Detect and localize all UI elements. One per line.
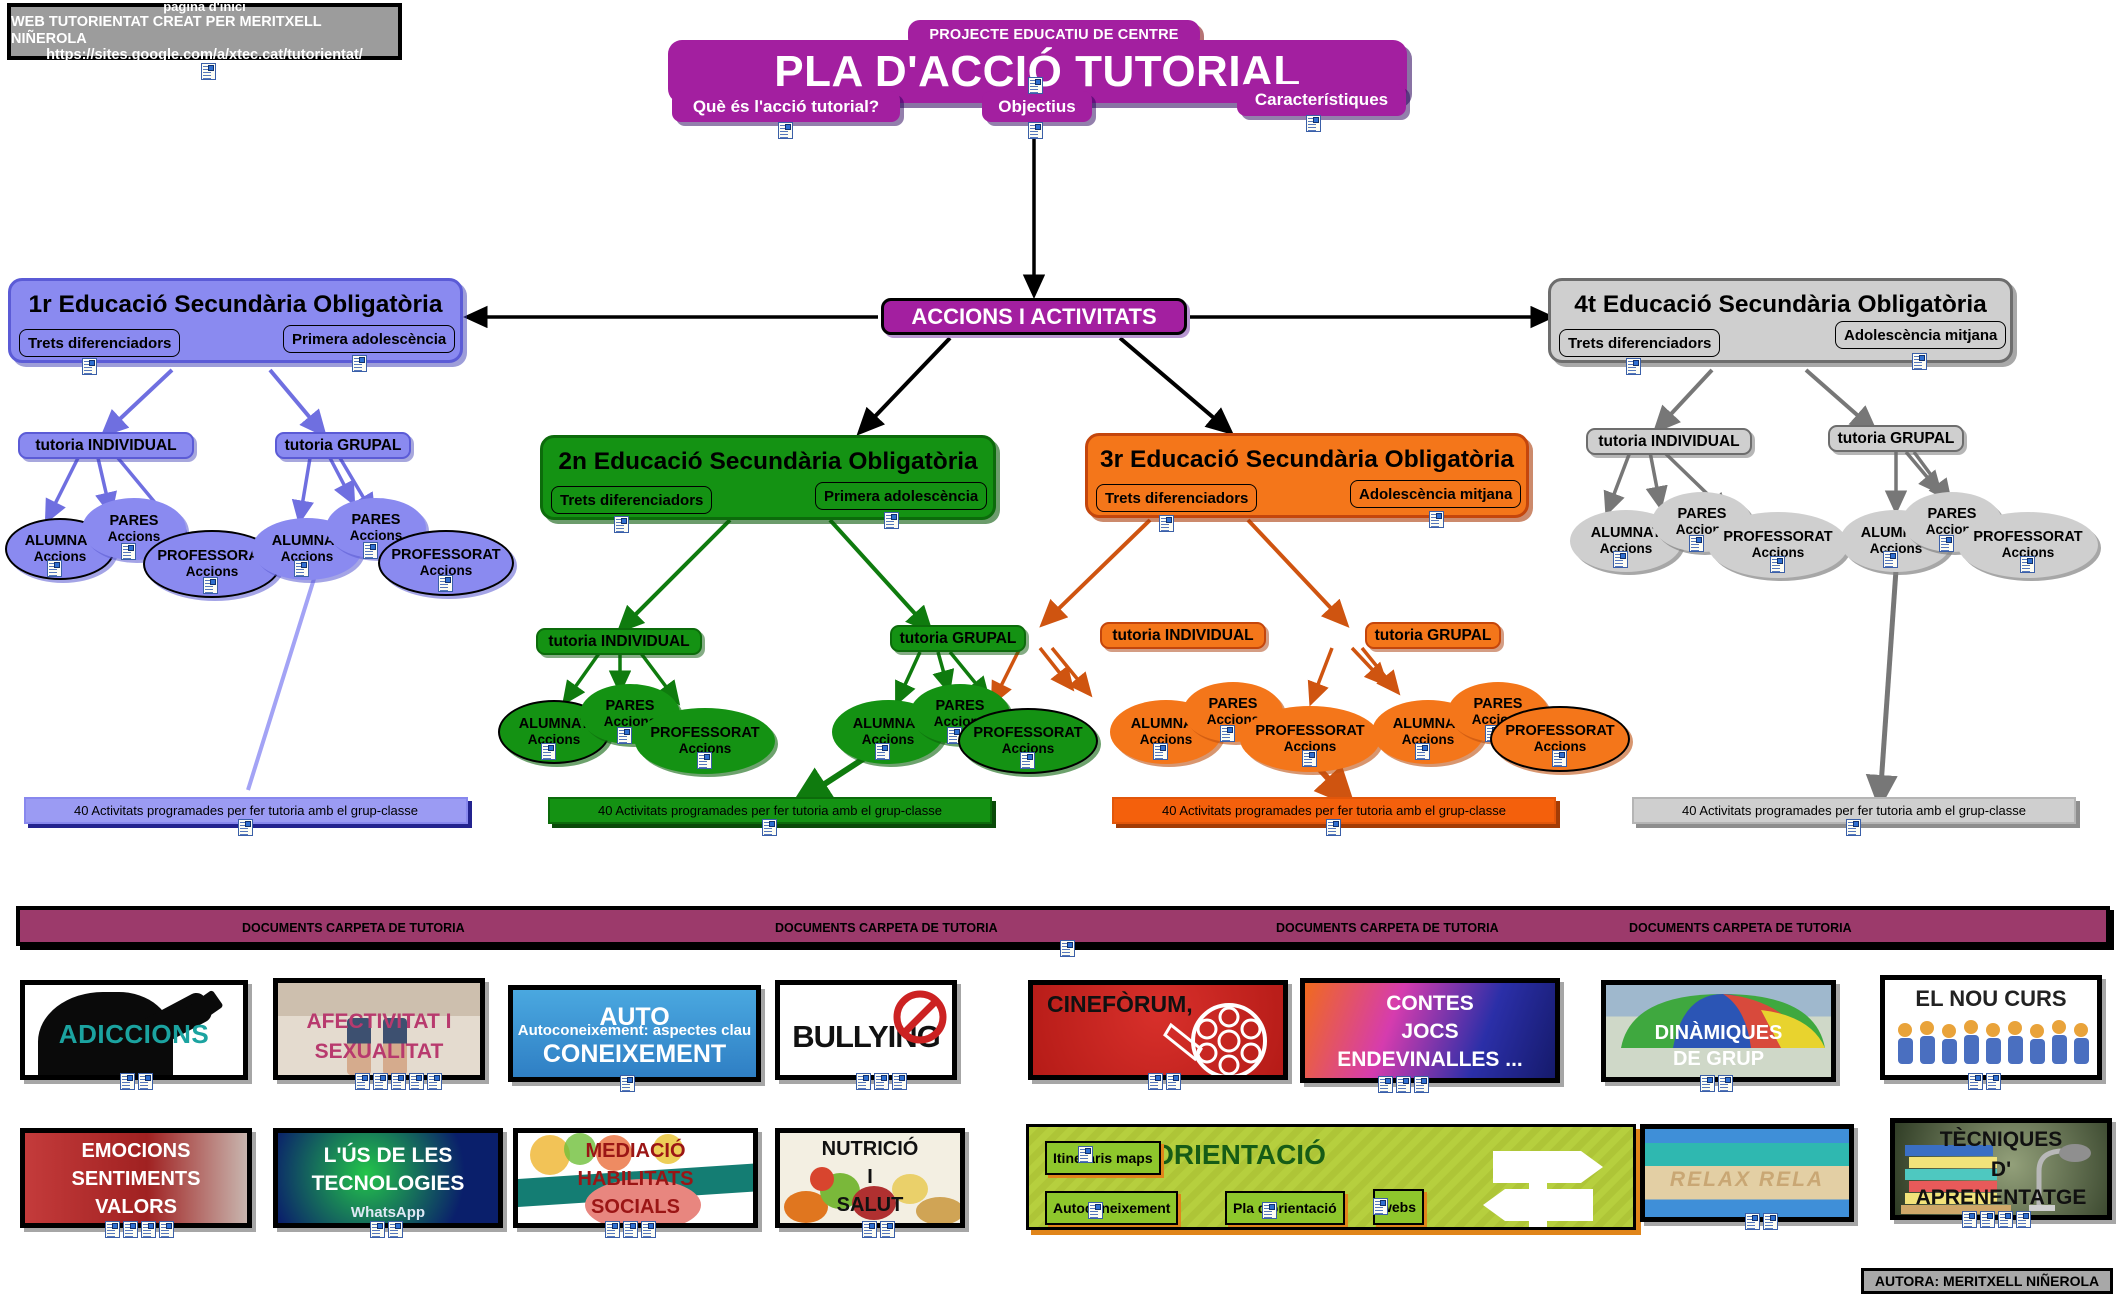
oval-title: PROFESSORAT bbox=[1255, 724, 1364, 739]
oval-title: PROFESSORAT bbox=[1723, 530, 1832, 545]
document-icon[interactable] bbox=[1552, 750, 1567, 767]
card-icons-tecnologies[interactable] bbox=[370, 1221, 403, 1238]
hub-accions-i-activitats[interactable]: ACCIONS I ACTIVITATS bbox=[881, 298, 1187, 335]
trets-diferenciadors-4t[interactable]: Trets diferenciadors bbox=[1559, 329, 1720, 357]
document-icon[interactable] bbox=[856, 1073, 871, 1090]
card-orientacio[interactable]: ORIENTACIÓ Itineraris maps Autoconeixeme… bbox=[1026, 1124, 1636, 1230]
tutoria-grupal-4t[interactable]: tutoria GRUPAL bbox=[1828, 425, 1964, 452]
card-bullying[interactable]: BULLYING bbox=[775, 980, 957, 1080]
film-reel-icon bbox=[1163, 1001, 1273, 1080]
document-icon[interactable] bbox=[1883, 551, 1898, 568]
document-icon[interactable] bbox=[1689, 535, 1704, 552]
document-icon[interactable] bbox=[1718, 1075, 1733, 1092]
oval-title: PARES bbox=[936, 699, 985, 714]
document-icon[interactable] bbox=[1220, 725, 1235, 742]
document-icon[interactable] bbox=[201, 63, 216, 80]
card-icons-tecniques[interactable] bbox=[1962, 1211, 2031, 1228]
image-icon[interactable] bbox=[862, 1221, 877, 1238]
document-icon[interactable] bbox=[352, 355, 367, 372]
card-tecnologies[interactable]: L'ÚS DE LES TECNOLOGIES WhatsApp bbox=[273, 1128, 503, 1228]
document-icon[interactable] bbox=[1302, 750, 1317, 767]
document-icon[interactable] bbox=[880, 1221, 895, 1238]
document-icon[interactable] bbox=[1414, 1076, 1429, 1093]
document-icon[interactable] bbox=[1028, 77, 1043, 94]
document-icon[interactable] bbox=[105, 1221, 120, 1238]
oval-title: PARES bbox=[1928, 507, 1977, 522]
card-afectivitat[interactable]: AFECTIVITAT I SEXUALITAT bbox=[273, 978, 485, 1080]
card-icons-emocions[interactable] bbox=[105, 1221, 174, 1238]
document-icon[interactable] bbox=[1148, 1073, 1163, 1090]
tutoria-grupal-3r[interactable]: tutoria GRUPAL bbox=[1365, 622, 1501, 649]
tutoria-individual-1r[interactable]: tutoria INDIVIDUAL bbox=[18, 432, 194, 459]
nav-what-is-tutorial[interactable]: Què és l'acció tutorial? bbox=[672, 91, 900, 122]
card-caption: RELAX RELA bbox=[1645, 1169, 1849, 1190]
document-icon[interactable] bbox=[620, 1075, 635, 1092]
document-icon[interactable] bbox=[238, 819, 253, 836]
document-icon[interactable] bbox=[294, 560, 309, 577]
document-icon[interactable] bbox=[1968, 1073, 1983, 1090]
document-icon[interactable] bbox=[1998, 1211, 2013, 1228]
card-icons-nou-curs[interactable] bbox=[1968, 1073, 2001, 1090]
document-icon[interactable] bbox=[1060, 940, 1075, 957]
card-dinamiques[interactable]: DINÀMIQUES DE GRUP bbox=[1601, 980, 1836, 1082]
tutoria-individual-3r[interactable]: tutoria INDIVIDUAL bbox=[1100, 622, 1266, 649]
document-icon[interactable] bbox=[1763, 1213, 1778, 1230]
year-title-4t: 4t Educació Secundària Obligatòria bbox=[1551, 291, 2010, 319]
document-icon[interactable] bbox=[1429, 511, 1444, 528]
card-icons-relax[interactable] bbox=[1745, 1213, 1778, 1230]
books-graphic bbox=[1901, 1135, 2011, 1215]
oval-title: PARES bbox=[606, 699, 655, 714]
document-icon[interactable] bbox=[762, 819, 777, 836]
document-icon[interactable] bbox=[1912, 353, 1927, 370]
children-graphic bbox=[1893, 1018, 2098, 1076]
legs-graphic bbox=[347, 1018, 371, 1075]
year-header-4t[interactable]: 4t Educació Secundària Obligatòria Trets… bbox=[1548, 278, 2013, 363]
documents-label-2[interactable]: DOCUMENTS CARPETA DE TUTORIA bbox=[775, 921, 998, 935]
card-caption: AUTO bbox=[513, 1005, 756, 1031]
banner-url: https://sites.google.com/a/xtec.cat/tuto… bbox=[46, 47, 363, 63]
documents-label-1[interactable]: DOCUMENTS CARPETA DE TUTORIA bbox=[242, 921, 465, 935]
orientacio-tag-autoconeixement[interactable]: Autoconeixement bbox=[1045, 1191, 1178, 1225]
card-cineforum[interactable]: CINEFÒRUM, bbox=[1028, 980, 1288, 1080]
document-icon[interactable] bbox=[778, 122, 793, 139]
card-caption: EMOCIONS bbox=[25, 1141, 247, 1161]
document-icon[interactable] bbox=[1846, 819, 1861, 836]
oval-title: PARES bbox=[1209, 697, 1258, 712]
film-icon[interactable] bbox=[141, 1221, 156, 1238]
trets-diferenciadors-1r[interactable]: Trets diferenciadors bbox=[19, 329, 180, 357]
card-caption-2: DE GRUP bbox=[1606, 1049, 1831, 1069]
tutoria-individual-4t[interactable]: tutoria INDIVIDUAL bbox=[1586, 428, 1752, 455]
year-header-1r[interactable]: 1r Educació Secundària Obligatòria Trets… bbox=[8, 278, 463, 363]
card-icons-nutricio[interactable] bbox=[862, 1221, 895, 1238]
document-icon[interactable] bbox=[697, 752, 712, 769]
document-icon[interactable] bbox=[82, 358, 97, 375]
document-icon[interactable] bbox=[1088, 1202, 1103, 1219]
document-icon[interactable] bbox=[1159, 515, 1174, 532]
prohibition-icon bbox=[892, 989, 948, 1045]
card-contes[interactable]: CONTES JOCS ENDEVINALLES ... bbox=[1300, 978, 1560, 1083]
site-banner[interactable]: pagina d'inici WEB TUTORIENTAT CREAT PER… bbox=[7, 3, 402, 60]
stage-label-1r[interactable]: Primera adolescència bbox=[283, 325, 455, 353]
document-icon[interactable] bbox=[2020, 556, 2035, 573]
image-icon[interactable] bbox=[1745, 1213, 1760, 1230]
oval-title: PROFESSORAT bbox=[973, 726, 1082, 741]
film-icon[interactable] bbox=[409, 1073, 424, 1090]
stage-label-3r[interactable]: Adolescència mitjana bbox=[1350, 480, 1521, 508]
document-icon[interactable] bbox=[363, 542, 378, 559]
document-icon[interactable] bbox=[1700, 1075, 1715, 1092]
oval-title: PARES bbox=[1474, 697, 1523, 712]
oval-title: ALUMNAT bbox=[519, 717, 590, 732]
oval-title: PARES bbox=[352, 513, 401, 528]
document-icon[interactable] bbox=[614, 516, 629, 533]
oval-title: PARES bbox=[110, 514, 159, 529]
documents-label-4[interactable]: DOCUMENTS CARPETA DE TUTORIA bbox=[1629, 921, 1852, 935]
document-icon[interactable] bbox=[1415, 743, 1430, 760]
document-icon[interactable] bbox=[1306, 115, 1321, 132]
tutoria-individual-2n[interactable]: tutoria INDIVIDUAL bbox=[536, 628, 702, 655]
document-icon[interactable] bbox=[121, 543, 136, 560]
document-icon[interactable] bbox=[1770, 556, 1785, 573]
card-caption: EL NOU CURS bbox=[1885, 988, 2097, 1010]
card-caption: AFECTIVITAT I bbox=[278, 1011, 480, 1032]
card-nou-curs[interactable]: EL NOU CURS bbox=[1880, 975, 2102, 1080]
oval-title: PROFESSORAT bbox=[157, 549, 266, 564]
year-header-2n[interactable]: 2n Educació Secundària Obligatòria Trets… bbox=[540, 435, 996, 520]
card-mediacio[interactable]: MEDIACIÓ HABILITATS SOCIALS bbox=[513, 1128, 758, 1228]
oval-title: PROFESSORAT bbox=[1973, 530, 2082, 545]
stage-label-4t[interactable]: Adolescència mitjana bbox=[1835, 321, 2006, 349]
image-icon[interactable] bbox=[159, 1221, 174, 1238]
oval-title: PROFESSORAT bbox=[650, 726, 759, 741]
document-icon[interactable] bbox=[617, 727, 632, 744]
stage-label-2n[interactable]: Primera adolescència bbox=[815, 482, 987, 510]
document-icon[interactable] bbox=[120, 1073, 135, 1090]
document-icon[interactable] bbox=[438, 575, 453, 592]
desk-lamp-icon bbox=[2029, 1137, 2099, 1213]
checklist-icon[interactable] bbox=[370, 1221, 385, 1238]
trets-diferenciadors-3r[interactable]: Trets diferenciadors bbox=[1096, 484, 1257, 512]
document-icon[interactable] bbox=[623, 1221, 638, 1238]
card-caption-3: ENDEVINALLES ... bbox=[1305, 1049, 1555, 1070]
document-icon[interactable] bbox=[123, 1221, 138, 1238]
hands-graphic bbox=[518, 1133, 758, 1228]
card-icons-bullying[interactable] bbox=[856, 1073, 907, 1090]
image-icon[interactable] bbox=[641, 1221, 656, 1238]
legs-graphic bbox=[383, 1018, 407, 1075]
document-icon[interactable] bbox=[1326, 819, 1341, 836]
card-caption: CONTES bbox=[1305, 993, 1555, 1014]
food-graphic bbox=[782, 1155, 965, 1228]
card-tecniques[interactable]: TÈCNIQUES D' APRENENTATGE bbox=[1890, 1118, 2112, 1220]
person-icon[interactable] bbox=[1078, 1146, 1093, 1163]
document-icon[interactable] bbox=[875, 743, 890, 760]
film-icon[interactable] bbox=[1986, 1073, 2001, 1090]
document-icon[interactable] bbox=[1166, 1073, 1181, 1090]
card-caption-2: SEXUALITAT bbox=[278, 1041, 480, 1062]
document-icon[interactable] bbox=[1396, 1076, 1411, 1093]
signpost-icon bbox=[1463, 1141, 1623, 1230]
card-icons-contes[interactable] bbox=[1378, 1076, 1429, 1093]
card-caption-2: CONEIXEMENT bbox=[513, 1042, 756, 1068]
card-caption-2: JOCS bbox=[1305, 1021, 1555, 1042]
card-icons-autoconeixement[interactable] bbox=[620, 1075, 635, 1092]
document-icon[interactable] bbox=[1028, 122, 1043, 139]
card-caption-2: TECNOLOGIES bbox=[278, 1173, 498, 1194]
checklist-icon[interactable] bbox=[1980, 1211, 1995, 1228]
card-icons-dinamiques[interactable] bbox=[1700, 1075, 1733, 1092]
image-icon[interactable] bbox=[427, 1073, 442, 1090]
oval-title: PROFESSORAT bbox=[1505, 724, 1614, 739]
tutoria-grupal-1r[interactable]: tutoria GRUPAL bbox=[275, 432, 411, 459]
trets-diferenciadors-2n[interactable]: Trets diferenciadors bbox=[551, 486, 712, 514]
document-icon[interactable] bbox=[605, 1221, 620, 1238]
document-icon[interactable] bbox=[1153, 743, 1168, 760]
oval-title: PARES bbox=[1678, 507, 1727, 522]
document-icon[interactable] bbox=[388, 1221, 403, 1238]
document-icon[interactable] bbox=[203, 577, 218, 594]
document-icon[interactable] bbox=[1613, 551, 1628, 568]
document-icon[interactable] bbox=[355, 1073, 370, 1090]
card-icons-mediacio[interactable] bbox=[605, 1221, 656, 1238]
banner-line-1: pagina d'inici bbox=[163, 0, 246, 14]
card-icons-afectivitat[interactable] bbox=[355, 1073, 442, 1090]
document-icon[interactable] bbox=[1262, 1202, 1277, 1219]
year-header-3r[interactable]: 3r Educació Secundària Obligatòria Trets… bbox=[1085, 433, 1529, 518]
document-icon[interactable] bbox=[2016, 1211, 2031, 1228]
card-icons-cineforum[interactable] bbox=[1148, 1073, 1181, 1090]
document-icon[interactable] bbox=[874, 1073, 889, 1090]
year-title-3r: 3r Educació Secundària Obligatòria bbox=[1088, 446, 1526, 474]
card-caption-2: SENTIMENTS bbox=[25, 1169, 247, 1189]
nav-caracteristiques[interactable]: Característiques bbox=[1237, 84, 1406, 116]
card-subcaption: Autoconeixement: aspectes clau bbox=[513, 1023, 756, 1038]
oval-title: ALUMNAT bbox=[1591, 526, 1662, 541]
card-emocions[interactable]: EMOCIONS SENTIMENTS VALORS bbox=[20, 1128, 252, 1228]
year-title-1r: 1r Educació Secundària Obligatòria bbox=[11, 291, 460, 319]
document-icon[interactable] bbox=[373, 1073, 388, 1090]
card-adiccions[interactable]: ADICCIONS bbox=[20, 980, 248, 1080]
document-icon[interactable] bbox=[138, 1073, 153, 1090]
checklist-icon[interactable] bbox=[1378, 1076, 1393, 1093]
tutoria-grupal-2n[interactable]: tutoria GRUPAL bbox=[890, 625, 1026, 652]
document-icon[interactable] bbox=[391, 1073, 406, 1090]
image-icon[interactable] bbox=[1962, 1211, 1977, 1228]
document-icon[interactable] bbox=[541, 743, 556, 760]
nav-objectius[interactable]: Objectius bbox=[982, 91, 1092, 122]
parachute-graphic bbox=[1611, 990, 1836, 1050]
document-icon[interactable] bbox=[47, 560, 62, 577]
document-icon[interactable] bbox=[1939, 535, 1954, 552]
document-icon[interactable] bbox=[892, 1073, 907, 1090]
document-icon[interactable] bbox=[884, 512, 899, 529]
oval-title: PROFESSORAT bbox=[391, 548, 500, 563]
banner-line-2: WEB TUTORIENTAT CREAT PER MERITXELL NIÑE… bbox=[11, 14, 398, 46]
documents-label-3[interactable]: DOCUMENTS CARPETA DE TUTORIA bbox=[1276, 921, 1499, 935]
document-icon[interactable] bbox=[1020, 752, 1035, 769]
card-caption-3: VALORS bbox=[25, 1197, 247, 1217]
card-icons-adiccions[interactable] bbox=[120, 1073, 153, 1090]
oval-subtitle: Accions bbox=[108, 530, 161, 544]
document-icon[interactable] bbox=[1626, 358, 1641, 375]
card-nutricio[interactable]: NUTRICIÓ I SALUT bbox=[775, 1128, 965, 1228]
card-autoconeixement[interactable]: AUTO Autoconeixement: aspectes clau CONE… bbox=[508, 985, 761, 1082]
card-caption: L'ÚS DE LES bbox=[278, 1145, 498, 1166]
document-icon[interactable] bbox=[1373, 1198, 1388, 1215]
card-relax[interactable]: RELAX RELA bbox=[1640, 1124, 1854, 1222]
orientacio-tag-pla[interactable]: Pla d'orientació bbox=[1225, 1191, 1345, 1225]
author-tag: AUTORA: MERITXELL NIÑEROLA bbox=[1861, 1268, 2113, 1294]
orientacio-tag-itineraris[interactable]: Itineraris maps bbox=[1045, 1141, 1161, 1175]
card-caption-3: WhatsApp bbox=[278, 1205, 498, 1220]
connector-lines bbox=[0, 0, 2125, 1307]
year-title-2n: 2n Educació Secundària Obligatòria bbox=[543, 448, 993, 476]
